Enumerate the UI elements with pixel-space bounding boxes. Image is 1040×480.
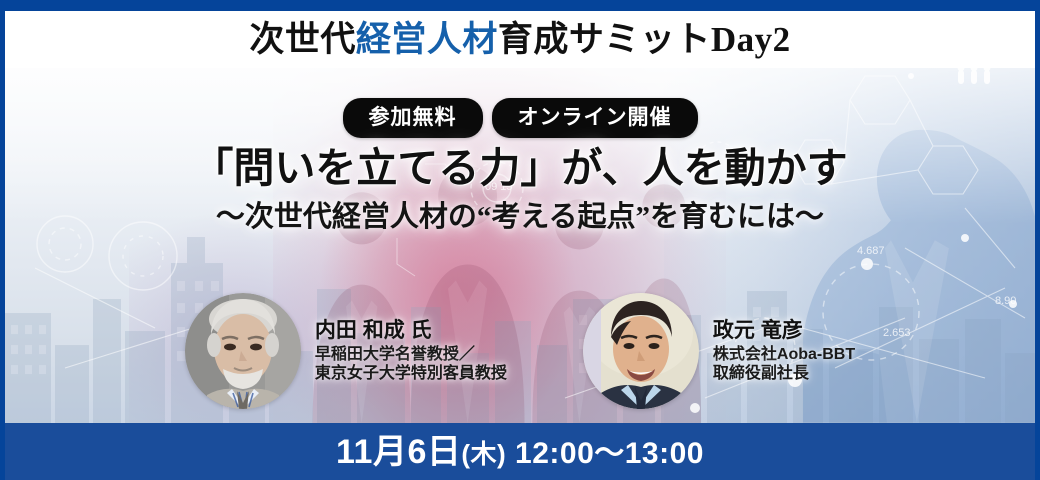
- overlay-number-3: 4.687: [857, 245, 885, 257]
- event-time: 12:00〜13:00: [506, 437, 704, 470]
- speaker-affiliation-line1: 株式会社Aoba-BBT: [713, 346, 855, 365]
- event-day-of-week: (木): [461, 439, 506, 469]
- speaker-card: 政元 竜彦 株式会社Aoba-BBT 取締役副社長: [583, 293, 855, 409]
- page-title: 次世代経営人材育成サミットDay2: [249, 22, 790, 57]
- event-title-part1: 次世代: [249, 20, 356, 59]
- avatar: [185, 293, 301, 409]
- right-edge-accent: [1035, 0, 1040, 480]
- event-title-band: 次世代経営人材育成サミットDay2: [5, 11, 1035, 68]
- speaker-info: 政元 竜彦 株式会社Aoba-BBT 取締役副社長: [713, 319, 855, 383]
- event-title-accent: 経営人材: [356, 20, 498, 59]
- badge-row: 参加無料 オンライン開催: [5, 98, 1035, 138]
- subheadline: 〜次世代経営人材の“考える起点”を育むには〜: [5, 202, 1035, 234]
- headline: 「問いを立てる力」が、人を動かす: [5, 146, 1035, 190]
- speaker-info: 内田 和成 氏 早稲田大学名誉教授／ 東京女子大学特別客員教授: [315, 319, 507, 383]
- badge-online-event: オンライン開催: [492, 98, 698, 138]
- badge-free-admission: 参加無料: [343, 98, 483, 138]
- speaker-name: 内田 和成 氏: [315, 319, 507, 343]
- avatar: [583, 293, 699, 409]
- webinar-banner: 次世代経営人材育成サミットDay2: [0, 0, 1040, 480]
- speaker-card: 内田 和成 氏 早稲田大学名誉教授／ 東京女子大学特別客員教授: [185, 293, 507, 409]
- left-edge-accent: [0, 0, 5, 480]
- event-datetime: 11月6日(木) 12:00〜13:00: [336, 435, 704, 469]
- headline-block: 「問いを立てる力」が、人を動かす 〜次世代経営人材の“考える起点”を育むには〜: [5, 146, 1035, 234]
- speaker-affiliation-line2: 東京女子大学特別客員教授: [315, 365, 507, 384]
- date-bar: 11月6日(木) 12:00〜13:00: [0, 423, 1040, 480]
- event-title-part2: 育成サミットDay2: [498, 20, 791, 59]
- speaker-name: 政元 竜彦: [713, 319, 855, 343]
- speaker-row: 内田 和成 氏 早稲田大学名誉教授／ 東京女子大学特別客員教授: [5, 293, 1035, 409]
- top-accent-bar: [0, 0, 1040, 11]
- event-date: 11月6日: [336, 433, 461, 471]
- hero-artwork: 2.653 8.90 4.687 09 15 参加無料 オンライン開催 「問いを…: [5, 68, 1035, 423]
- speaker-affiliation-line2: 取締役副社長: [713, 365, 855, 384]
- speaker-affiliation-line1: 早稲田大学名誉教授／: [315, 346, 507, 365]
